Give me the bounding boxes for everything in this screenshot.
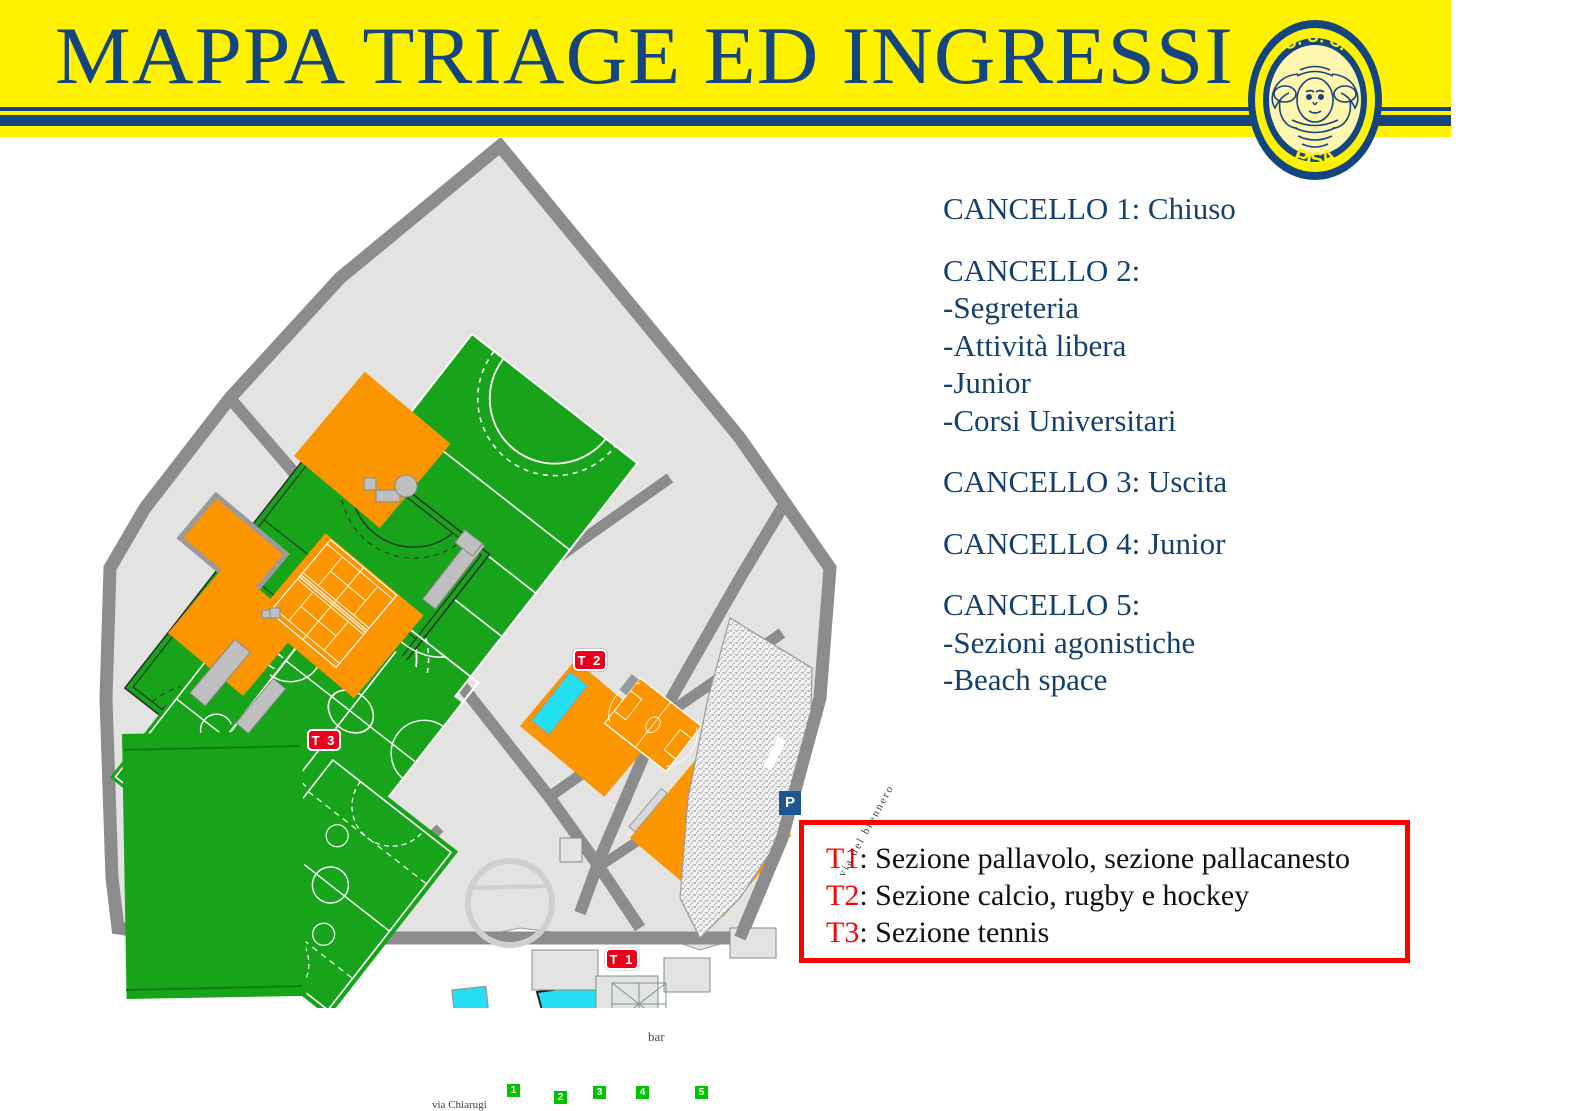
gate-4-heading: CANCELLO 4: Junior [943,525,1413,563]
gate-block-3: CANCELLO 3: Uscita [943,463,1413,501]
gate-marker-5[interactable]: 5 [694,1085,709,1100]
legend-desc-t2: Sezione calcio, rugby e hockey [875,879,1249,912]
gate-5-item-0: -Sezioni agonistiche [943,624,1413,662]
gate-2-item-2: -Junior [943,364,1413,402]
triage-marker-t3[interactable]: T 3 [307,729,341,751]
gate-3-heading: CANCELLO 3: Uscita [943,463,1413,501]
gate-block-4: CANCELLO 4: Junior [943,525,1413,563]
pool-secondary [452,986,489,1008]
gate-2-item-0: -Segreteria [943,289,1413,327]
gate-5-item-1: -Beach space [943,661,1413,699]
gate-block-2: CANCELLO 2: -Segreteria -Attività libera… [943,252,1413,440]
gate-block-5: CANCELLO 5: -Sezioni agonistiche -Beach … [943,586,1413,699]
triage-marker-t1[interactable]: T 1 [605,948,639,970]
gate-marker-3[interactable]: 3 [592,1085,607,1100]
gate-2-heading: CANCELLO 2: [943,252,1413,290]
header-stripe-thick [0,115,1451,126]
header-stripe-thin [0,107,1451,111]
header-banner: MAPPA TRIAGE ED INGRESSI [0,0,1451,137]
cus-pisa-logo: C. U. S. PISA [1240,16,1390,184]
poi-label-bar: bar [648,1029,665,1045]
site-map-svg[interactable] [40,138,920,1008]
site-map[interactable]: T 1 T 2 T 3 1 2 3 4 5 P via Chiarugi via… [40,138,920,1008]
gate-marker-1[interactable]: 1 [506,1083,521,1098]
street-label-via-chiarugi: via Chiarugi [432,1099,487,1111]
gate-2-item-3: -Corsi Universitari [943,402,1413,440]
parking-badge[interactable]: P [779,791,801,815]
triage-marker-t2[interactable]: T 2 [573,649,607,671]
gate-2-item-1: -Attività libera [943,327,1413,365]
page-title: MAPPA TRIAGE ED INGRESSI [55,12,1234,100]
gate-block-1: CANCELLO 1: Chiuso [943,190,1413,228]
legend-desc-t1: Sezione pallavolo, sezione pallacanesto [875,842,1350,875]
gate-5-heading: CANCELLO 5: [943,586,1413,624]
pitch-beach-field [122,731,307,999]
gate-marker-4[interactable]: 4 [635,1085,650,1100]
gate-marker-2[interactable]: 2 [553,1090,568,1105]
gate-1-heading: CANCELLO 1: Chiuso [943,190,1413,228]
gate-list: CANCELLO 1: Chiuso CANCELLO 2: -Segreter… [943,190,1413,723]
